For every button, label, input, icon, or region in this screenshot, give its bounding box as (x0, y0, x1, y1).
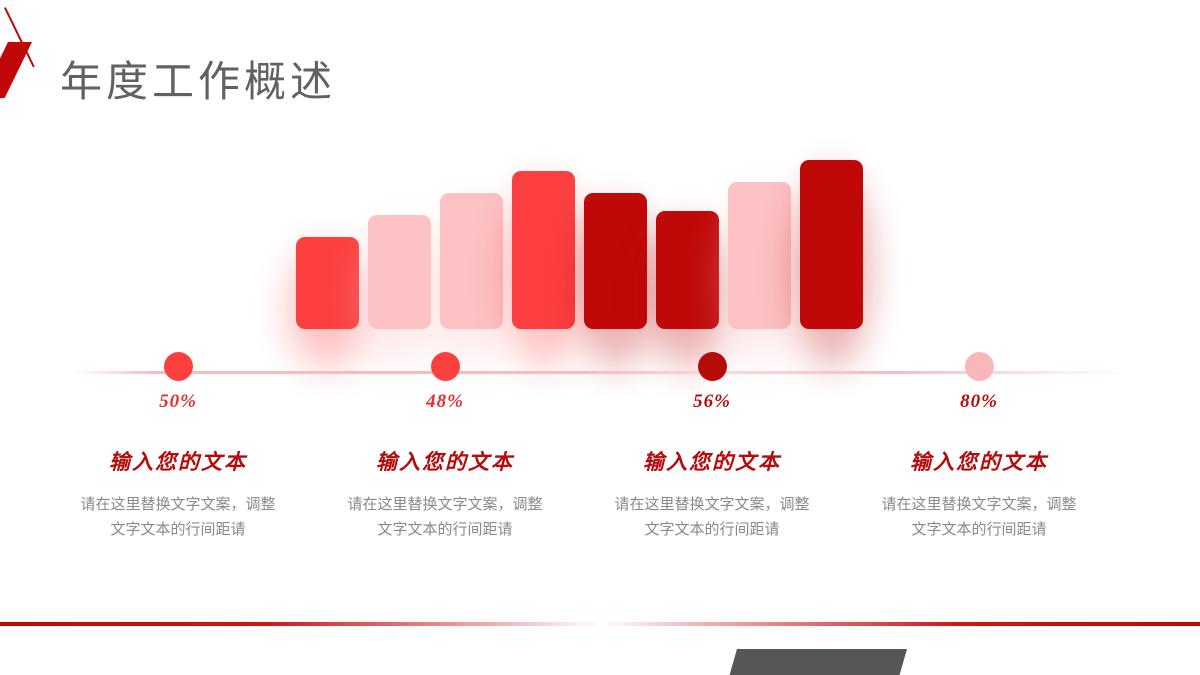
column-heading-2: 输入您的文本 (325, 446, 565, 476)
percent-label-1: 50% (58, 391, 298, 413)
bar-7[interactable] (728, 182, 791, 329)
column-body-3: 请在这里替换文字文案，调整文字文本的行间距请 (592, 493, 832, 543)
column-heading-4: 输入您的文本 (859, 446, 1099, 476)
marker-dot-1[interactable] (164, 352, 193, 381)
percent-label-2: 48% (325, 391, 565, 413)
slide-canvas: 年度工作概述 50% 输入您的文本 请在这里替换文字文案，调整文字文本的行间距请… (0, 0, 1200, 675)
percent-label-3: 56% (592, 391, 832, 413)
footer-divider-line (0, 622, 1200, 626)
footer-parallelogram-shape (728, 649, 907, 675)
marker-dot-3[interactable] (698, 352, 727, 381)
bar-3[interactable] (440, 193, 503, 329)
marker-dot-2[interactable] (431, 352, 460, 381)
column-body-1: 请在这里替换文字文案，调整文字文本的行间距请 (58, 493, 298, 543)
column-4[interactable]: 80% 输入您的文本 请在这里替换文字文案，调整文字文本的行间距请 (859, 352, 1099, 543)
column-body-2: 请在这里替换文字文案，调整文字文本的行间距请 (325, 493, 565, 543)
bar-6[interactable] (656, 211, 719, 329)
percent-label-4: 80% (859, 391, 1099, 413)
column-1[interactable]: 50% 输入您的文本 请在这里替换文字文案，调整文字文本的行间距请 (58, 352, 298, 543)
column-heading-1: 输入您的文本 (58, 446, 298, 476)
bar-2[interactable] (368, 215, 431, 329)
bar-8[interactable] (800, 160, 863, 329)
column-2[interactable]: 48% 输入您的文本 请在这里替换文字文案，调整文字文本的行间距请 (325, 352, 565, 543)
bar-5[interactable] (584, 193, 647, 329)
bar-1[interactable] (296, 237, 359, 329)
bar-4[interactable] (512, 171, 575, 329)
column-heading-3: 输入您的文本 (592, 446, 832, 476)
column-body-4: 请在这里替换文字文案，调整文字文本的行间距请 (859, 493, 1099, 543)
bar-chart (0, 0, 1200, 400)
marker-dot-4[interactable] (965, 352, 994, 381)
column-3[interactable]: 56% 输入您的文本 请在这里替换文字文案，调整文字文本的行间距请 (592, 352, 832, 543)
